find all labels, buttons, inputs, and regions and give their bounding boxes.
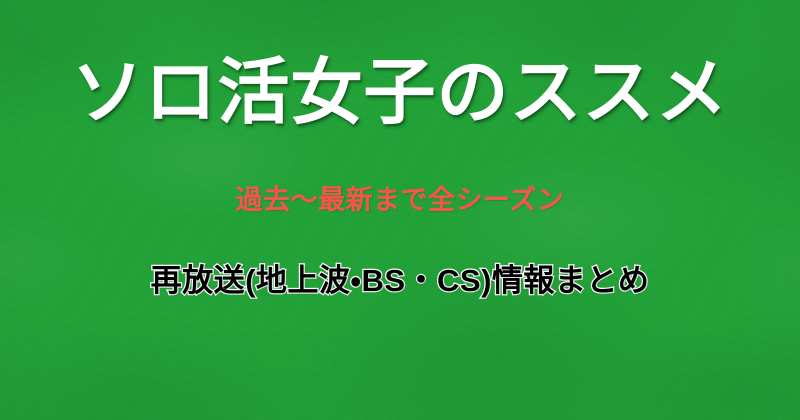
banner-title: ソロ活女子のススメ bbox=[0, 57, 800, 129]
banner-subtitle: 過去〜最新まで全シーズン bbox=[0, 187, 800, 214]
banner: ソロ活女子のススメ 過去〜最新まで全シーズン 再放送(地上波・BS・CS)情報ま… bbox=[0, 0, 800, 420]
banner-text-stack: ソロ活女子のススメ 過去〜最新まで全シーズン 再放送(地上波・BS・CS)情報ま… bbox=[0, 0, 800, 420]
banner-tagline: 再放送(地上波・BS・CS)情報まとめ bbox=[0, 265, 800, 296]
